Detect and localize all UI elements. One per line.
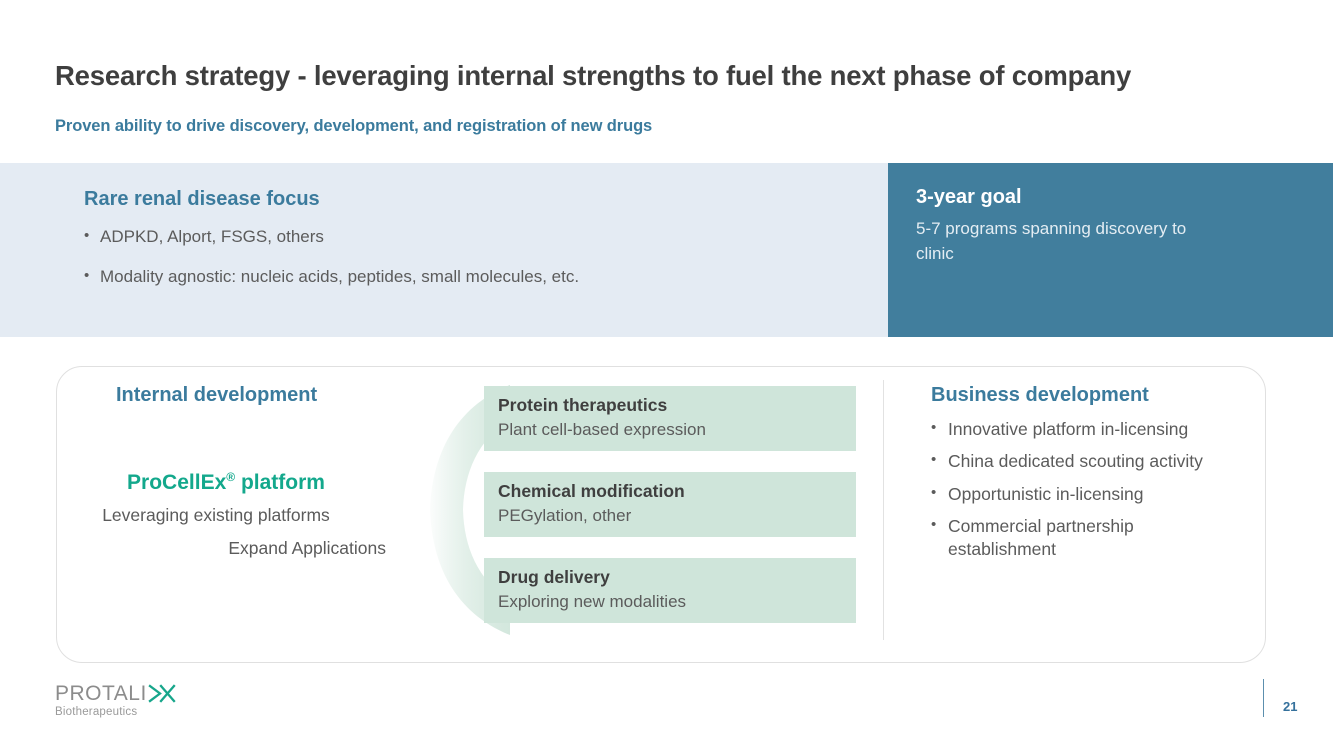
list-item: • China dedicated scouting activity <box>931 450 1231 472</box>
list-item: • Commercial partnership establishment <box>931 515 1231 560</box>
bullet-icon: • <box>931 483 948 502</box>
page-number-divider <box>1263 679 1264 717</box>
registered-mark-icon: ® <box>226 470 235 484</box>
modality-box-title: Protein therapeutics <box>498 395 842 416</box>
modality-box-title: Drug delivery <box>498 567 842 588</box>
page-subtitle: Proven ability to drive discovery, devel… <box>55 117 652 136</box>
bullet-icon: • <box>931 515 948 534</box>
three-year-goal-panel: 3-year goal 5-7 programs spanning discov… <box>888 163 1333 337</box>
internal-development-heading: Internal development <box>116 384 317 407</box>
list-item-label: Modality agnostic: nucleic acids, peptid… <box>100 266 864 289</box>
business-development-bullet-list: • Innovative platform in-licensing • Chi… <box>931 418 1231 570</box>
list-item-label: ADPKD, Alport, FSGS, others <box>100 226 864 249</box>
list-item: • Innovative platform in-licensing <box>931 418 1231 440</box>
bullet-icon: • <box>84 266 100 286</box>
modality-box-protein-therapeutics: Protein therapeutics Plant cell-based ex… <box>484 386 856 451</box>
rare-renal-disease-panel: Rare renal disease focus • ADPKD, Alport… <box>0 163 888 337</box>
slide: Research strategy - leveraging internal … <box>0 0 1333 749</box>
list-item: • ADPKD, Alport, FSGS, others <box>84 226 864 249</box>
modality-box-subtitle: PEGylation, other <box>498 506 842 526</box>
modality-box-drug-delivery: Drug delivery Exploring new modalities <box>484 558 856 623</box>
list-item-label: Commercial partnership establishment <box>948 515 1231 560</box>
three-year-goal-heading: 3-year goal <box>916 186 1022 209</box>
bullet-icon: • <box>931 418 948 437</box>
logo-text: PROTALI <box>55 683 147 704</box>
protalix-logo: PROTALI Biotherapeutics <box>55 683 176 718</box>
logo-x-mark-icon <box>148 683 176 704</box>
platform-line-2: Expand Applications <box>86 538 386 559</box>
rare-renal-disease-heading: Rare renal disease focus <box>84 188 320 211</box>
procellex-platform-heading: ProCellEx® platform <box>66 470 386 495</box>
platform-name: ProCellEx <box>127 471 226 494</box>
bullet-icon: • <box>931 450 948 469</box>
column-divider <box>883 380 884 640</box>
list-item-label: Opportunistic in-licensing <box>948 483 1231 505</box>
modality-box-subtitle: Exploring new modalities <box>498 592 842 612</box>
list-item-label: China dedicated scouting activity <box>948 450 1231 472</box>
business-development-heading: Business development <box>931 384 1149 407</box>
logo-tagline: Biotherapeutics <box>55 706 176 718</box>
three-year-goal-body: 5-7 programs spanning discovery to clini… <box>916 217 1216 266</box>
list-item-label: Innovative platform in-licensing <box>948 418 1231 440</box>
bullet-icon: • <box>84 226 100 246</box>
page-title: Research strategy - leveraging internal … <box>55 60 1131 92</box>
platform-line-1: Leveraging existing platforms <box>46 505 386 526</box>
page-number: 21 <box>1283 699 1297 714</box>
list-item: • Modality agnostic: nucleic acids, pept… <box>84 266 864 289</box>
platform-suffix: platform <box>235 471 325 494</box>
modality-box-chemical-modification: Chemical modification PEGylation, other <box>484 472 856 537</box>
modality-box-title: Chemical modification <box>498 481 842 502</box>
list-item: • Opportunistic in-licensing <box>931 483 1231 505</box>
logo-wordmark: PROTALI <box>55 683 176 704</box>
rare-renal-disease-bullet-list: • ADPKD, Alport, FSGS, others • Modality… <box>84 226 864 306</box>
modality-box-subtitle: Plant cell-based expression <box>498 420 842 440</box>
